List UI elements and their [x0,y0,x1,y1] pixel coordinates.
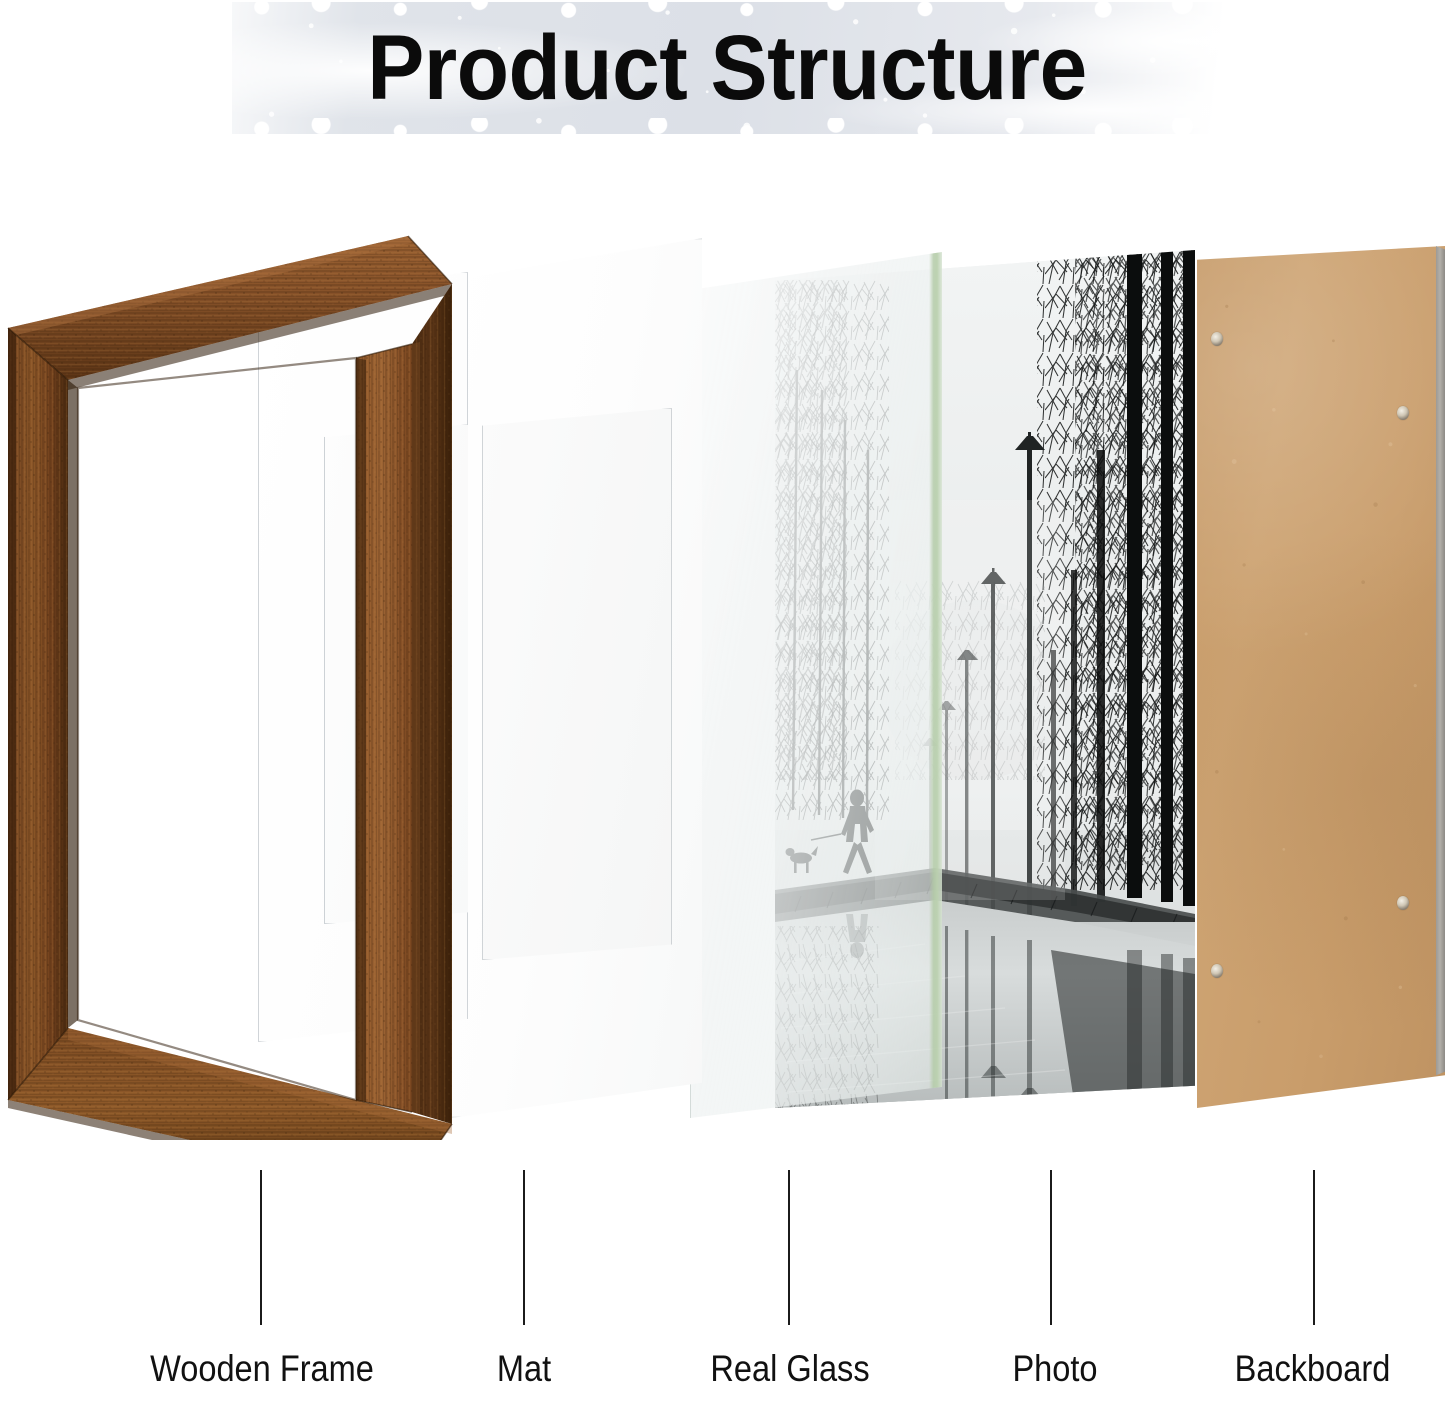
leader-line-wooden-frame [260,1170,262,1325]
glass-green-edge [929,252,942,1118]
leader-line-mat [523,1170,525,1325]
backboard-thickness-edge [1436,246,1445,1108]
backboard-rivet [1211,332,1223,346]
label-backboard: Backboard [1196,1348,1429,1390]
layer-wooden-frame [0,228,462,1140]
label-real-glass: Real Glass [671,1348,909,1390]
layer-real-glass [690,252,942,1118]
label-wooden-frame: Wooden Frame [130,1348,394,1390]
leader-line-real-glass [788,1170,790,1325]
leader-line-photo [1050,1170,1052,1325]
label-mat: Mat [436,1348,612,1390]
layer-mat [452,238,702,1118]
leader-line-backboard [1313,1170,1315,1325]
label-photo: Photo [967,1348,1143,1390]
backboard-rivet [1397,896,1409,910]
mat-window-cutout [482,408,672,960]
glass-sheen [691,252,942,1118]
backboard-rivet [1397,406,1409,420]
product-structure-infographic: Product Structure [0,0,1445,1406]
wooden-frame-artwork [0,228,462,1140]
backboard-fiber-texture [1197,246,1445,1108]
exploded-layer-stack [0,0,1445,1406]
backboard-rivet [1211,964,1223,978]
layer-backboard [1197,246,1445,1108]
